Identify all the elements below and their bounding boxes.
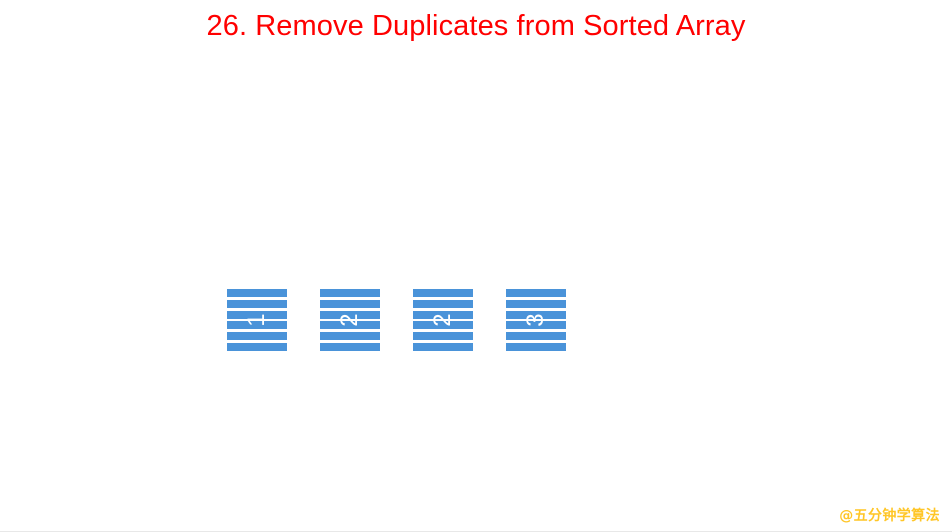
cell-stripe — [320, 321, 380, 329]
array-cell-1[interactable]: 2 — [320, 289, 380, 351]
cell-stripe — [227, 311, 287, 319]
cell-stripe — [413, 311, 473, 319]
cell-stripe — [320, 289, 380, 297]
cell-stripe — [506, 343, 566, 351]
cell-stripe — [506, 311, 566, 319]
cell-stripe — [320, 300, 380, 308]
array-cell-2[interactable]: 2 — [413, 289, 473, 351]
cell-stripe — [227, 289, 287, 297]
cell-stripe — [506, 321, 566, 329]
cell-stripe — [227, 321, 287, 329]
cell-stripe — [506, 332, 566, 340]
array-visualization: 1 2 2 3 — [227, 289, 566, 351]
watermark-label: @五分钟学算法 — [839, 505, 940, 525]
cell-stripe — [227, 343, 287, 351]
cell-stripe — [413, 332, 473, 340]
array-cell-3[interactable]: 3 — [506, 289, 566, 351]
cell-stripe — [320, 311, 380, 319]
cell-stripe — [413, 343, 473, 351]
cell-stripe — [227, 332, 287, 340]
cell-stripe — [320, 343, 380, 351]
cell-stripe — [506, 300, 566, 308]
cell-stripe — [413, 321, 473, 329]
cell-stripe — [506, 289, 566, 297]
page-title: 26. Remove Duplicates from Sorted Array — [0, 7, 952, 45]
array-cell-0[interactable]: 1 — [227, 289, 287, 351]
cell-stripe — [413, 300, 473, 308]
cell-stripe — [320, 332, 380, 340]
cell-stripe — [413, 289, 473, 297]
cell-stripe — [227, 300, 287, 308]
slide-canvas: 26. Remove Duplicates from Sorted Array … — [0, 0, 952, 532]
